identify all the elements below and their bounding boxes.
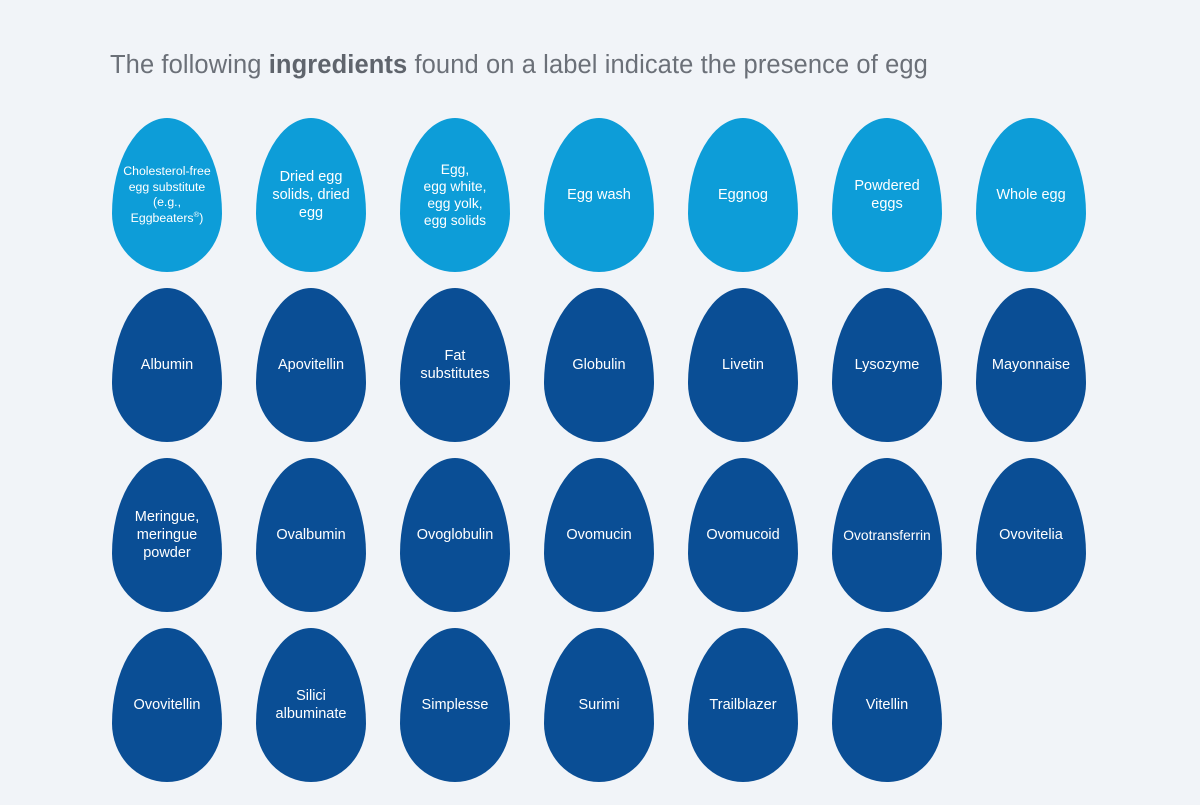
- egg-item-mayonnaise: Mayonnaise: [976, 288, 1086, 442]
- egg-label: Ovovitellin: [130, 696, 205, 714]
- egg-item-cholesterol-free-egg-substitute-e-g-eggb: Cholesterol-free egg substitute (e.g., E…: [112, 118, 222, 272]
- egg-label: Lysozyme: [851, 356, 924, 374]
- egg-label: Egg, egg white, egg yolk, egg solids: [420, 161, 491, 229]
- egg-item-ovalbumin: Ovalbumin: [256, 458, 366, 612]
- egg-label: Dried egg solids, dried egg: [268, 168, 353, 222]
- egg-label: Simplesse: [418, 696, 493, 714]
- egg-item-silici-albuminate: Silici albuminate: [256, 628, 366, 782]
- egg-item-whole-egg: Whole egg: [976, 118, 1086, 272]
- egg-item-vitellin: Vitellin: [832, 628, 942, 782]
- egg-item-ovovitelia: Ovovitelia: [976, 458, 1086, 612]
- egg-item-powdered-eggs: Powdered eggs: [832, 118, 942, 272]
- egg-item-ovomucin: Ovomucin: [544, 458, 654, 612]
- egg-label: Powdered eggs: [850, 177, 923, 213]
- egg-label: Whole egg: [992, 186, 1069, 204]
- egg-label: Mayonnaise: [988, 356, 1074, 374]
- egg-item-dried-egg-solids-dried-egg: Dried egg solids, dried egg: [256, 118, 366, 272]
- egg-item-simplesse: Simplesse: [400, 628, 510, 782]
- egg-item-trailblazer: Trailblazer: [688, 628, 798, 782]
- page-title-part-1: The following: [110, 51, 269, 79]
- egg-item-eggnog: Eggnog: [688, 118, 798, 272]
- egg-label: Eggnog: [714, 186, 772, 204]
- egg-label: Ovomucoid: [702, 526, 783, 544]
- egg-label: Egg wash: [563, 186, 635, 204]
- egg-item-albumin: Albumin: [112, 288, 222, 442]
- egg-item-surimi: Surimi: [544, 628, 654, 782]
- egg-label: Vitellin: [862, 696, 912, 714]
- egg-label: Ovalbumin: [272, 526, 349, 544]
- egg-item-ovotransferrin: Ovotransferrin: [832, 458, 942, 612]
- egg-item-ovovitellin: Ovovitellin: [112, 628, 222, 782]
- registered-trademark-icon: ®: [194, 209, 200, 218]
- egg-item-fat-substitutes: Fat substitutes: [400, 288, 510, 442]
- egg-label: Ovotransferrin: [839, 527, 934, 544]
- egg-item-livetin: Livetin: [688, 288, 798, 442]
- egg-label: Livetin: [718, 356, 768, 374]
- egg-label: Ovoglobulin: [413, 526, 498, 544]
- egg-grid: Cholesterol-free egg substitute (e.g., E…: [112, 118, 1088, 782]
- infographic-canvas: The following ingredients found on a lab…: [0, 0, 1200, 805]
- page-title-part-2: found on a label indicate the presence o…: [407, 51, 928, 79]
- egg-label: Surimi: [574, 696, 623, 714]
- egg-label: Ovomucin: [562, 526, 635, 544]
- egg-item-ovomucoid: Ovomucoid: [688, 458, 798, 612]
- egg-label: Silici albuminate: [272, 687, 351, 723]
- egg-item-egg-wash: Egg wash: [544, 118, 654, 272]
- egg-label: Trailblazer: [705, 696, 780, 714]
- egg-label: Cholesterol-free egg substitute (e.g., E…: [121, 164, 212, 226]
- egg-label: Albumin: [137, 356, 197, 374]
- egg-item-egg-egg-white-egg-yolk-egg-solids: Egg, egg white, egg yolk, egg solids: [400, 118, 510, 272]
- page-title: The following ingredients found on a lab…: [110, 45, 1110, 85]
- egg-label: Fat substitutes: [416, 347, 493, 383]
- egg-item-apovitellin: Apovitellin: [256, 288, 366, 442]
- egg-label: Meringue, meringue powder: [131, 508, 203, 562]
- egg-label: Apovitellin: [274, 356, 348, 374]
- egg-label: Globulin: [568, 356, 629, 374]
- page-title-emphasis: ingredients: [269, 51, 408, 79]
- egg-item-meringue-meringue-powder: Meringue, meringue powder: [112, 458, 222, 612]
- egg-item-lysozyme: Lysozyme: [832, 288, 942, 442]
- egg-label: Ovovitelia: [995, 526, 1067, 544]
- egg-item-globulin: Globulin: [544, 288, 654, 442]
- egg-item-ovoglobulin: Ovoglobulin: [400, 458, 510, 612]
